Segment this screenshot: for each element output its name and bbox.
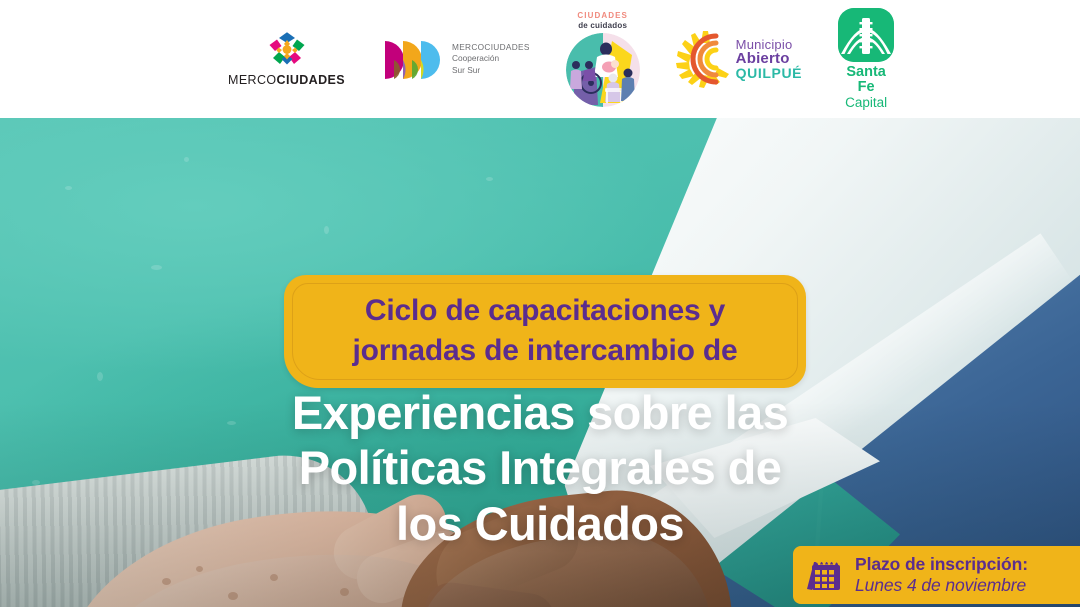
mercociudades-word-light: MERCO — [228, 73, 277, 87]
quilpue-wordmark: Municipio Abierto QUILPUÉ — [736, 38, 802, 80]
logo-cooperacion-sur-sur: MERCOCIUDADES Cooperación Sur Sur — [381, 39, 530, 79]
sun-icon — [676, 30, 734, 88]
santa-fe-wordmark: Santa Fe Capital — [838, 65, 894, 110]
logo-mercociudades: MERCOCIUDADES — [228, 31, 345, 87]
kicker-banner: Ciclo de capacitaciones y jornadas de in… — [284, 275, 806, 388]
ciudades-illustration-icon — [566, 33, 640, 107]
page-title: Experiencias sobre las Políticas Integra… — [0, 385, 1080, 551]
coop-line-1: MERCOCIUDADES — [452, 42, 530, 53]
kicker-text: Ciclo de capacitaciones y jornadas de in… — [284, 291, 806, 371]
mercociudades-word-bold: CIUDADES — [277, 73, 345, 87]
quilpue-line-3: QUILPUÉ — [736, 66, 802, 80]
logo-row: MERCOCIUDADES MERCO — [228, 0, 888, 118]
registration-deadline-badge: Plazo de inscripción: Lunes 4 de noviemb… — [793, 546, 1080, 604]
quilpue-line-2: Abierto — [736, 51, 802, 66]
coop-line-2: Cooperación — [452, 53, 530, 64]
headline-line-2: Políticas Integrales de — [0, 440, 1080, 495]
logo-ciudades-de-cuidados: CIUDADES de cuidados — [566, 11, 640, 107]
mercociudades-wordmark: MERCOCIUDADES — [228, 73, 345, 87]
ciudades-line-2: de cuidados — [578, 21, 627, 30]
poster-content: Ciclo de capacitaciones y jornadas de in… — [0, 118, 1080, 607]
calendar-icon — [805, 556, 845, 594]
logo-municipio-abierto-quilpue: Municipio Abierto QUILPUÉ — [676, 30, 802, 88]
mercociudades-mosaic-icon — [268, 31, 306, 69]
logo-bar: MERCOCIUDADES MERCO — [0, 0, 1080, 118]
deadline-date: Lunes 4 de noviembre — [855, 575, 1028, 596]
deadline-label: Plazo de inscripción: — [855, 554, 1028, 575]
bridge-icon — [838, 8, 894, 62]
ciudades-line-1: CIUDADES — [577, 11, 628, 20]
coop-line-3: Sur Sur — [452, 65, 530, 76]
santa-fe-line-2: Capital — [838, 96, 894, 110]
deadline-text: Plazo de inscripción: Lunes 4 de noviemb… — [855, 554, 1028, 595]
cooperacion-sur-sur-wordmark: MERCOCIUDADES Cooperación Sur Sur — [452, 42, 530, 76]
kicker-line-1: Ciclo de capacitaciones y — [284, 291, 806, 331]
headline-line-1: Experiencias sobre las — [0, 385, 1080, 440]
cooperacion-sur-sur-icon — [381, 39, 443, 79]
headline-line-3: los Cuidados — [0, 496, 1080, 551]
promotional-poster: MERCOCIUDADES MERCO — [0, 0, 1080, 607]
logo-santa-fe-capital: Santa Fe Capital — [838, 8, 894, 110]
kicker-line-2: jornadas de intercambio de — [284, 331, 806, 371]
santa-fe-line-1: Santa Fe — [838, 65, 894, 95]
